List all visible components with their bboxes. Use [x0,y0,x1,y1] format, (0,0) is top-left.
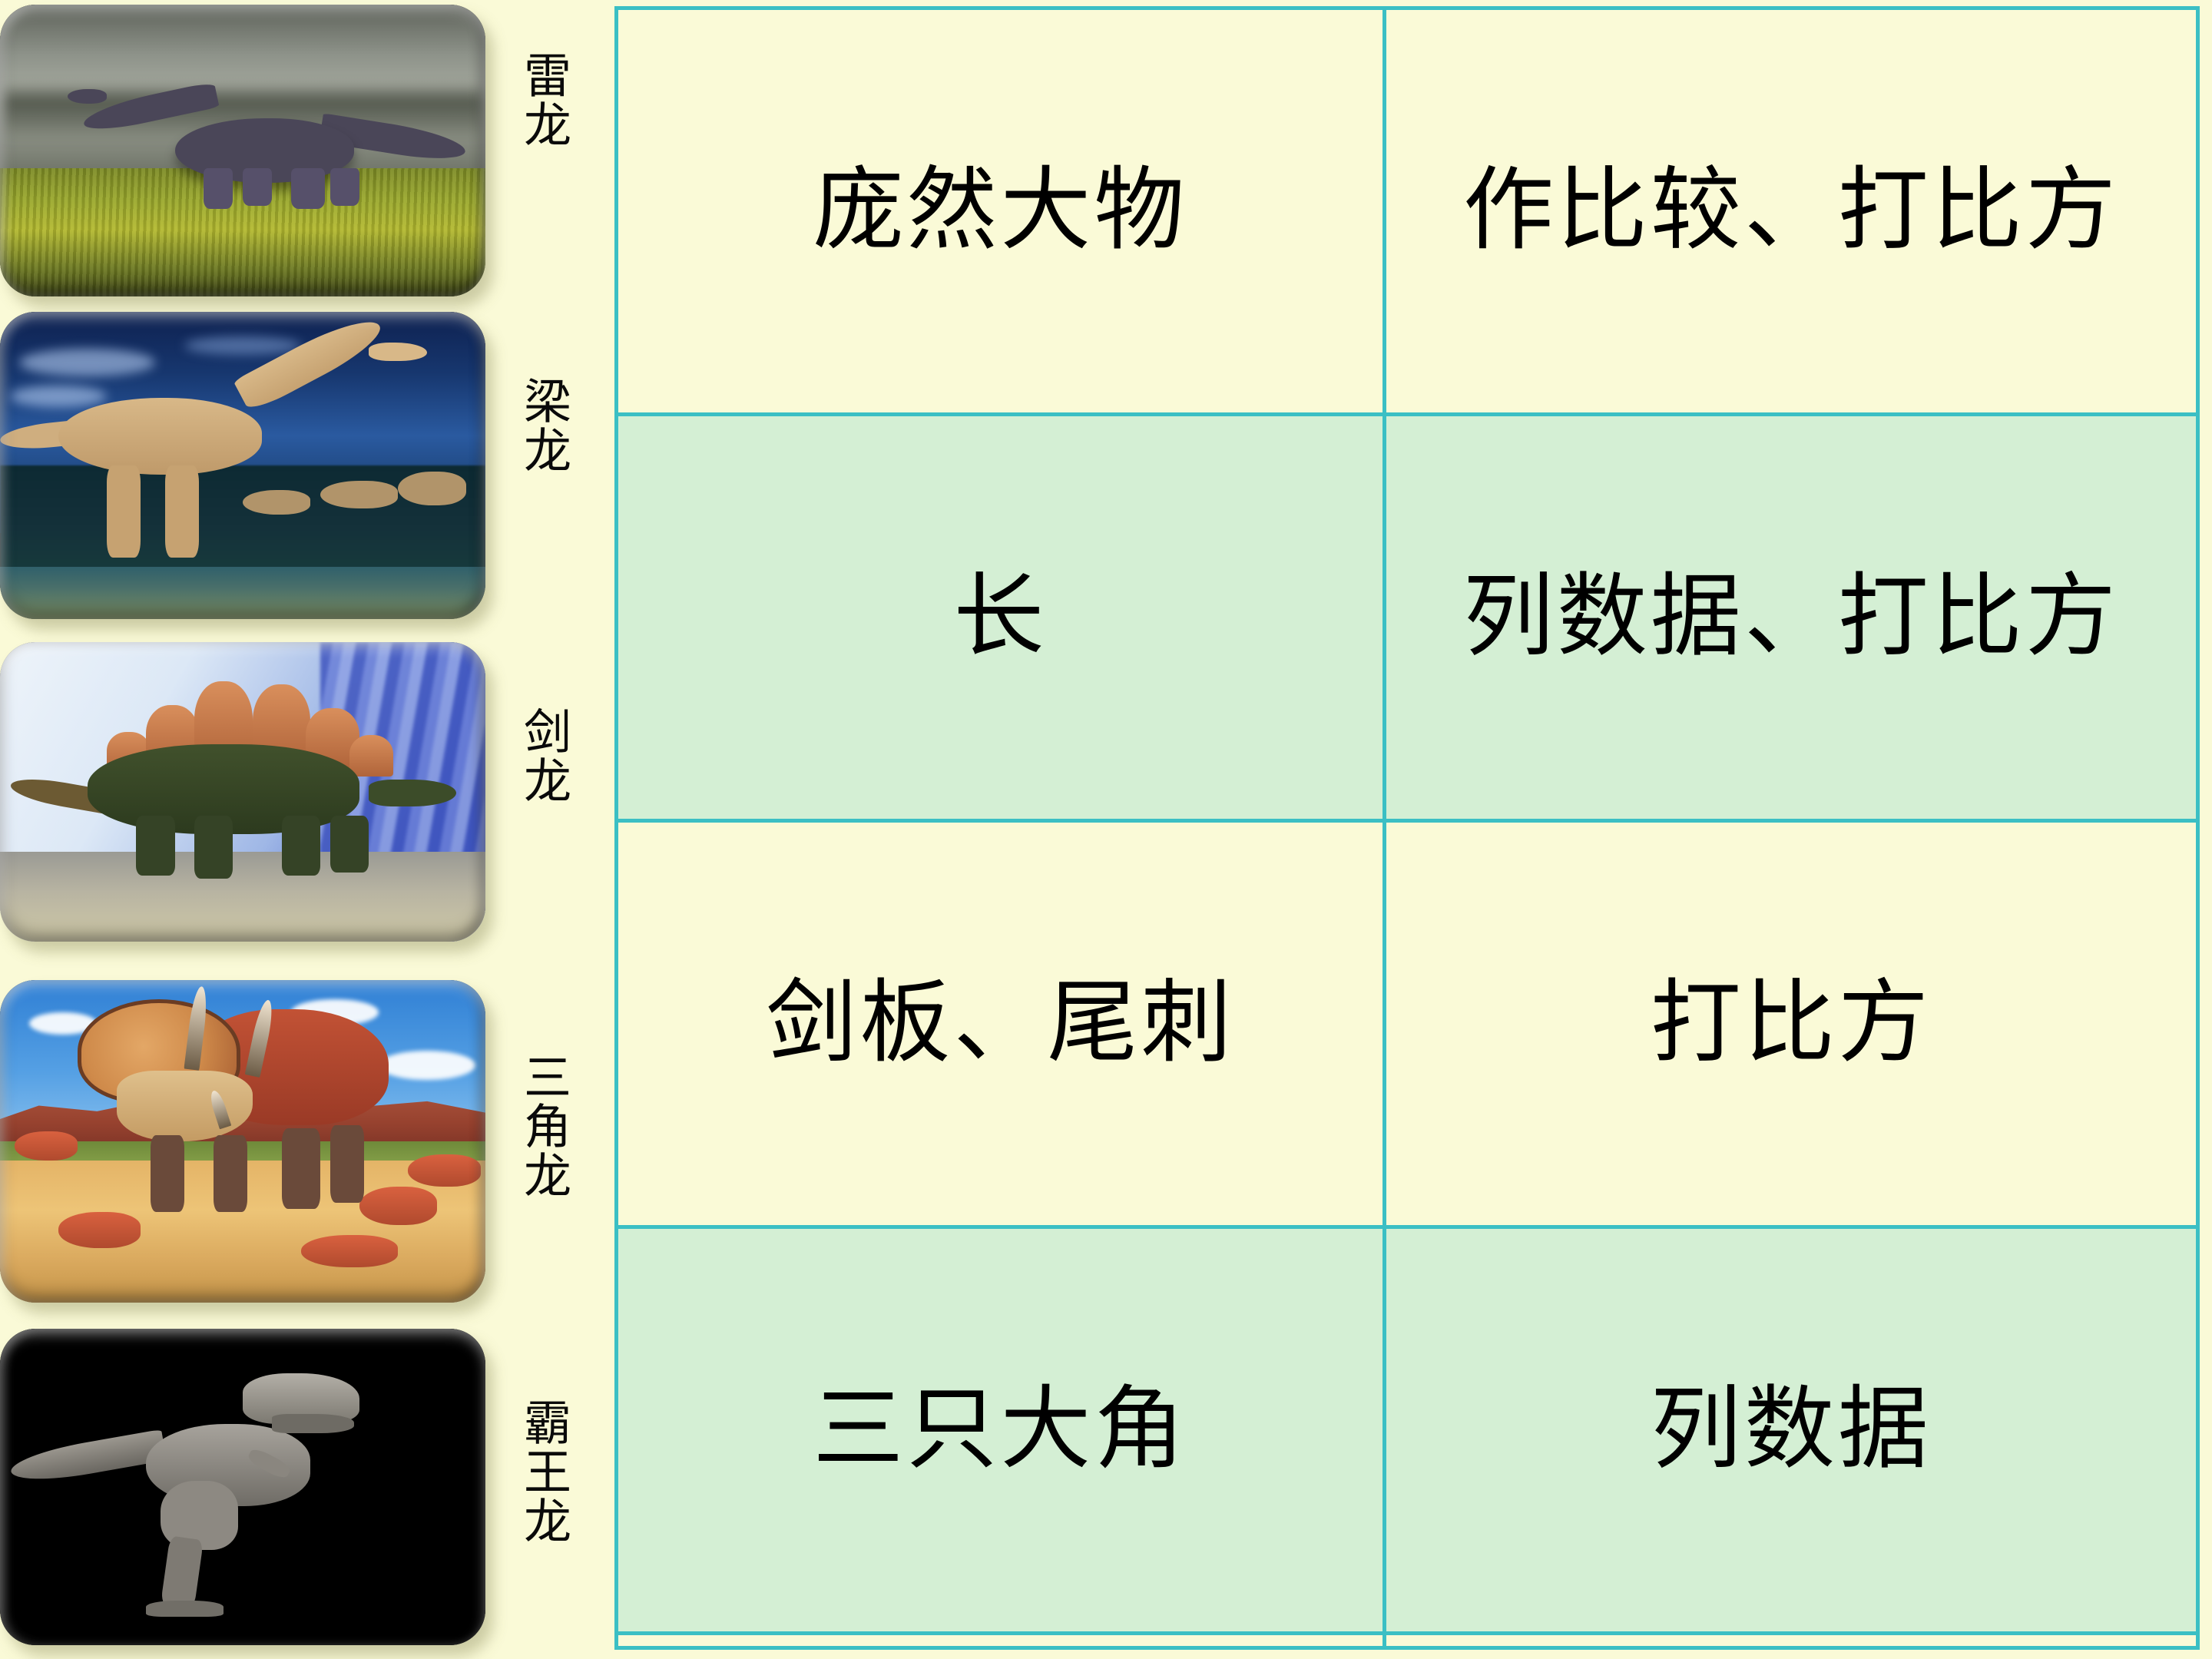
caption-leilong: 雷龙 [516,51,568,149]
dinosaur-thumbnail-column: 雷龙 梁龙 [0,0,507,1659]
table-row: 剑板、尾刺 打比方 [617,820,2198,1227]
table-row: 庞然大物 作比较、打比方 [617,8,2198,415]
cell-feature-leilong[interactable]: 庞然大物 [617,8,1385,415]
slide-canvas: 雷龙 梁龙 [0,0,2212,1659]
stegosaurus-photo[interactable] [0,642,485,942]
cell-feature-bawanglong[interactable] [617,1633,1385,1647]
dinosaur-feature-table: 庞然大物 作比较、打比方 长 列数据、打比方 剑板、尾刺 打比方 三只大角 列数… [614,6,2200,1650]
cell-feature-sanjiaolong[interactable]: 三只大角 [617,1227,1385,1633]
caption-sanjiaolong: 三角龙 [516,1052,568,1200]
table-row: 长 列数据、打比方 [617,414,2198,820]
thumbnail-row-jianlong [0,642,507,942]
tyrannosaurus-rex-photo[interactable] [0,1329,485,1645]
triceratops-photo[interactable] [0,980,485,1303]
thumbnail-row-lianglong [0,312,507,619]
cell-method-leilong[interactable]: 作比较、打比方 [1384,8,2197,415]
caption-jianlong: 剑龙 [516,707,568,805]
cell-method-bawanglong[interactable] [1384,1633,2197,1647]
caption-bawanglong: 霸王龙 [516,1398,568,1545]
table-row [617,1633,2198,1647]
thumbnail-row-sanjiaolong [0,980,507,1303]
cell-feature-lianglong[interactable]: 长 [617,414,1385,820]
thumbnail-row-leilong [0,5,507,296]
table-row: 三只大角 列数据 [617,1227,2198,1633]
thumbnail-row-bawanglong [0,1329,507,1645]
cell-method-jianlong[interactable]: 打比方 [1384,820,2197,1227]
cell-method-lianglong[interactable]: 列数据、打比方 [1384,414,2197,820]
caption-lianglong: 梁龙 [516,376,568,475]
brontosaurus-photo[interactable] [0,5,485,296]
cell-method-sanjiaolong[interactable]: 列数据 [1384,1227,2197,1633]
diplodocus-photo[interactable] [0,312,485,619]
cell-feature-jianlong[interactable]: 剑板、尾刺 [617,820,1385,1227]
